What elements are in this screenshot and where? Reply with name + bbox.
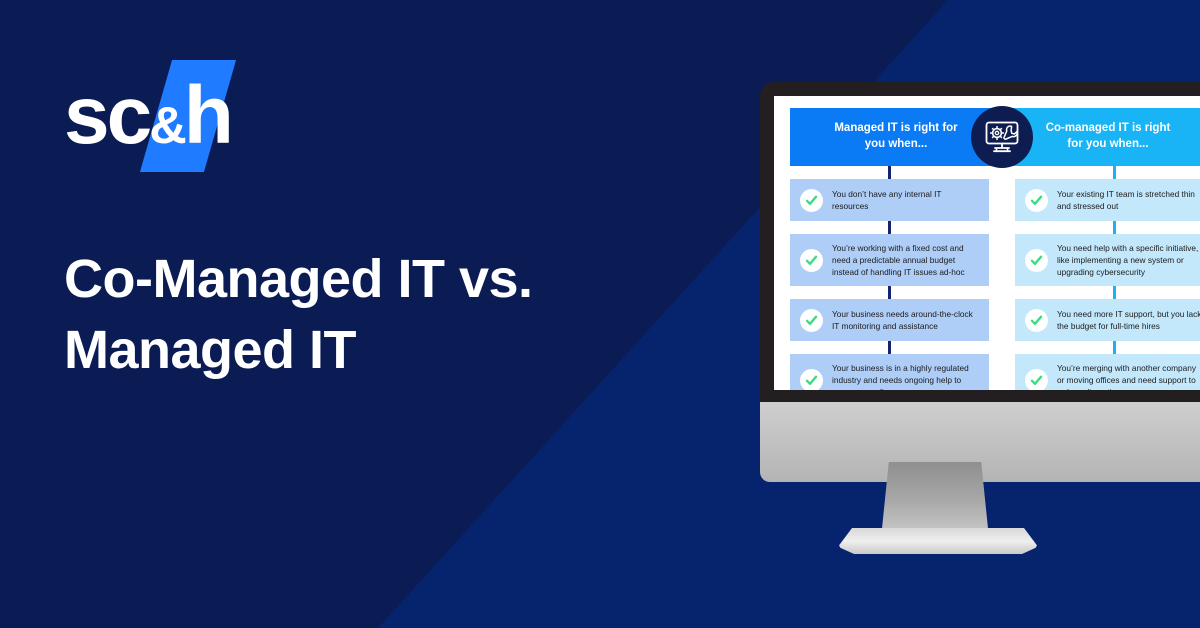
connector-line <box>888 221 891 234</box>
column-co-managed-it: Your existing IT team is stretched thin … <box>1015 166 1200 390</box>
list-item-label: You’re merging with another company or m… <box>1057 362 1200 390</box>
center-badge <box>971 106 1033 168</box>
list-item-label: You’re working with a fixed cost and nee… <box>832 242 979 278</box>
connector-line <box>1113 221 1116 234</box>
check-icon <box>1025 309 1048 332</box>
sch-logo[interactable]: sc&h <box>64 58 250 174</box>
column-managed-it: You don’t have any internal IT resources… <box>790 166 989 390</box>
connector-line <box>888 341 891 354</box>
monitor-device: Managed IT is right for you when... Co-m… <box>760 82 1200 402</box>
list-item: You’re merging with another company or m… <box>1015 354 1200 390</box>
logo-text-amp: & <box>149 97 184 155</box>
list-item: Your existing IT team is stretched thin … <box>1015 179 1200 221</box>
check-icon <box>1025 189 1048 212</box>
page-title: Co-Managed IT vs. Managed IT <box>64 244 664 387</box>
monitor-gear-wrench-icon <box>984 120 1020 154</box>
check-icon <box>800 369 823 390</box>
list-item-label: You need help with a specific initiative… <box>1057 242 1200 278</box>
list-item: Your business is in a highly regulated i… <box>790 354 989 390</box>
monitor-stand-foot <box>838 528 1038 554</box>
connector-line <box>888 286 891 299</box>
connector-line <box>1113 341 1116 354</box>
logo-text-h: h <box>184 70 231 161</box>
list-item: You don’t have any internal IT resources <box>790 179 989 221</box>
list-item: Your business needs around-the-clock IT … <box>790 299 989 341</box>
check-icon <box>1025 369 1048 390</box>
monitor-bezel: Managed IT is right for you when... Co-m… <box>760 82 1200 402</box>
list-item: You need more IT support, but you lack t… <box>1015 299 1200 341</box>
infographic-header-row: Managed IT is right for you when... Co-m… <box>790 108 1200 166</box>
infographic: Managed IT is right for you when... Co-m… <box>774 96 1200 390</box>
logo-text-sc: sc <box>64 70 149 161</box>
check-icon <box>800 249 823 272</box>
check-icon <box>800 189 823 212</box>
list-item-label: Your existing IT team is stretched thin … <box>1057 188 1200 212</box>
infographic-columns: You don’t have any internal IT resources… <box>790 166 1200 390</box>
list-item: You’re working with a fixed cost and nee… <box>790 234 989 286</box>
connector-line <box>1113 286 1116 299</box>
connector-line <box>1113 166 1116 179</box>
check-icon <box>800 309 823 332</box>
connector-line <box>888 166 891 179</box>
list-item-label: You need more IT support, but you lack t… <box>1057 308 1200 332</box>
monitor-screen: Managed IT is right for you when... Co-m… <box>774 96 1200 390</box>
list-item-label: Your business needs around-the-clock IT … <box>832 308 979 332</box>
list-item-label: You don’t have any internal IT resources <box>832 188 979 212</box>
promo-banner: sc&h Co-Managed IT vs. Managed IT Manage… <box>0 0 1200 628</box>
check-icon <box>1025 249 1048 272</box>
logo-wordmark: sc&h <box>64 58 250 174</box>
list-item: You need help with a specific initiative… <box>1015 234 1200 286</box>
list-item-label: Your business is in a highly regulated i… <box>832 362 979 390</box>
